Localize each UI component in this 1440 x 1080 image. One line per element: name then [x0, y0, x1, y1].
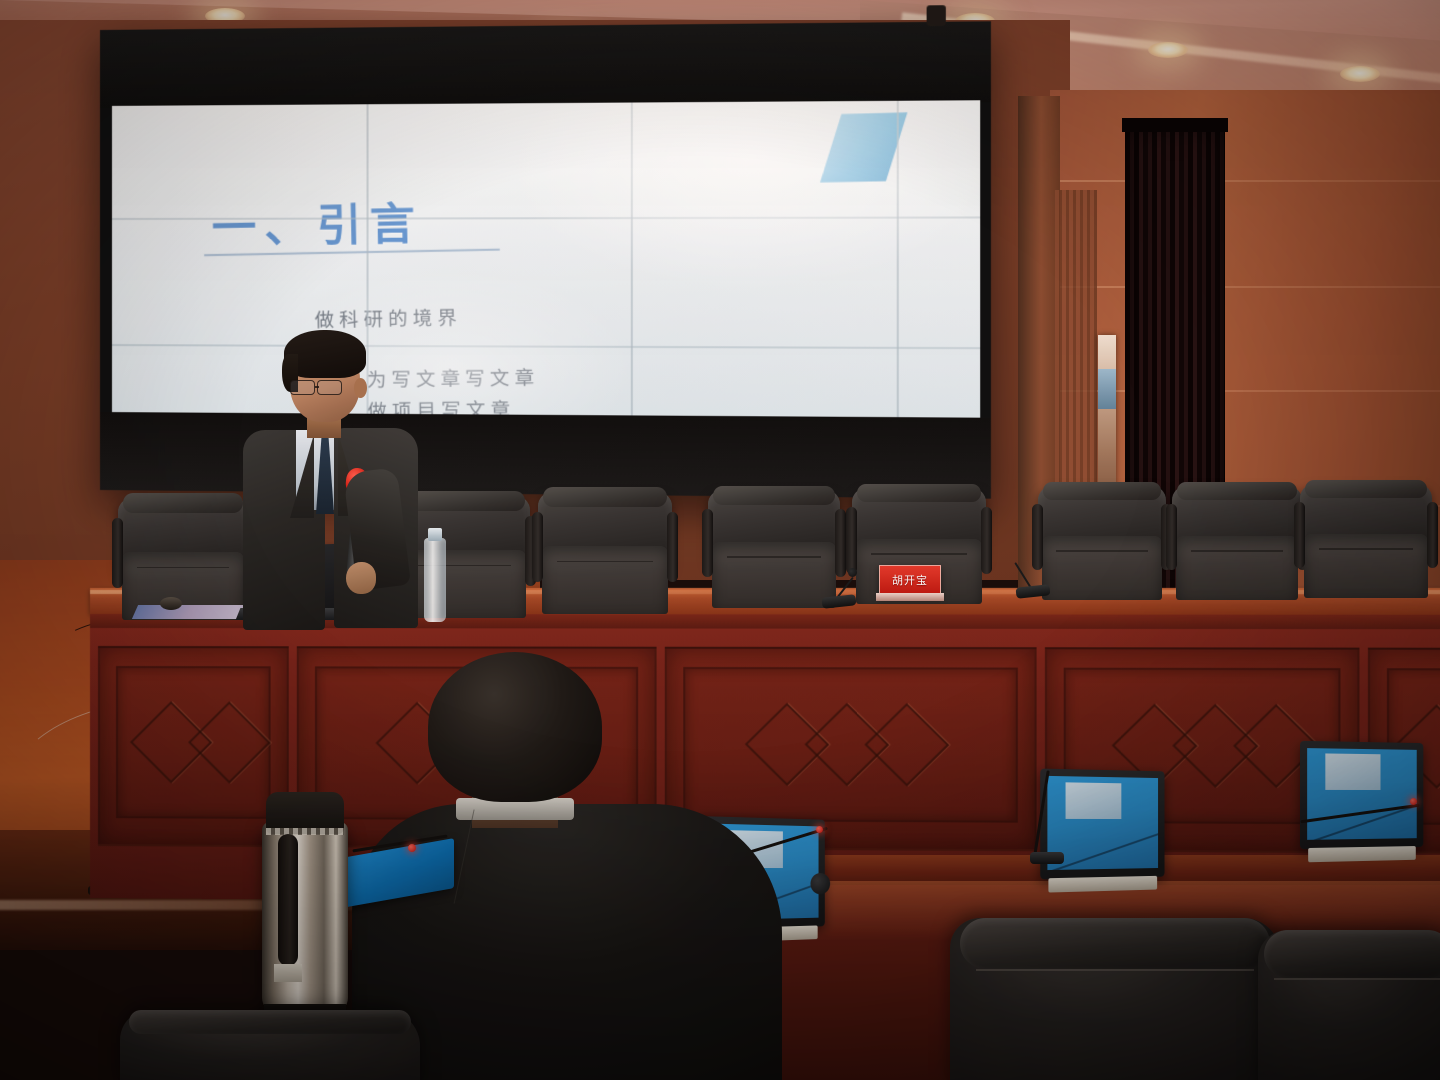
attendee-hair — [428, 652, 602, 802]
video-wall-mount-bracket — [927, 5, 946, 26]
round-object-on-desk — [160, 597, 182, 610]
presenter-ear — [354, 378, 367, 398]
slide-accent-shape — [820, 112, 907, 182]
executive-chair[interactable] — [538, 492, 672, 614]
name-placard-stand — [876, 593, 944, 601]
foreground-chair[interactable] — [120, 1010, 420, 1080]
executive-chair[interactable] — [118, 498, 248, 620]
video-wall-upper-bezel — [100, 21, 991, 108]
video-wall-bezel-seam — [897, 101, 899, 417]
water-bottle — [424, 538, 446, 622]
table-microphone[interactable] — [1296, 770, 1426, 840]
table-microphone[interactable] — [1022, 770, 1142, 870]
ceiling-light-icon — [1340, 66, 1380, 82]
slide-subtitle: 做科研的境界 — [314, 303, 462, 333]
presenter — [238, 330, 423, 630]
slide-title: 一、引言 — [211, 187, 424, 256]
executive-chair[interactable] — [708, 490, 840, 608]
eyeglasses-icon — [290, 380, 315, 395]
foreground-chair[interactable] — [1258, 930, 1440, 1080]
name-placard-text: 胡开宝 — [892, 572, 928, 588]
desk-front-panel — [98, 646, 289, 847]
eyeglasses-bridge — [315, 386, 319, 388]
video-wall: 一、引言 做科研的境界 为写文章写文章 做项目写文章 为建构学科写文章 为文化建… — [100, 21, 991, 498]
executive-chair[interactable] — [1038, 486, 1166, 600]
bottle-cap — [428, 528, 442, 541]
executive-chair[interactable] — [1172, 486, 1302, 600]
curtain-rail — [1122, 118, 1228, 132]
conference-hall-photo: 一、引言 做科研的境界 为写文章写文章 做项目写文章 为建构学科写文章 为文化建… — [0, 0, 1440, 1080]
mic-status-led — [408, 844, 416, 852]
ceiling-light-icon — [1148, 42, 1188, 58]
thermos-icon[interactable] — [262, 788, 348, 1028]
name-placard: 胡开宝 — [879, 565, 941, 595]
eyeglasses-icon — [317, 380, 342, 395]
foreground-chair[interactable] — [950, 918, 1280, 1080]
video-wall-lower-bezel — [100, 412, 991, 499]
video-wall-bezel-seam — [631, 103, 633, 416]
executive-chair[interactable] — [1300, 484, 1432, 598]
presenter-hand — [346, 562, 376, 594]
standing-banner — [1098, 335, 1116, 490]
